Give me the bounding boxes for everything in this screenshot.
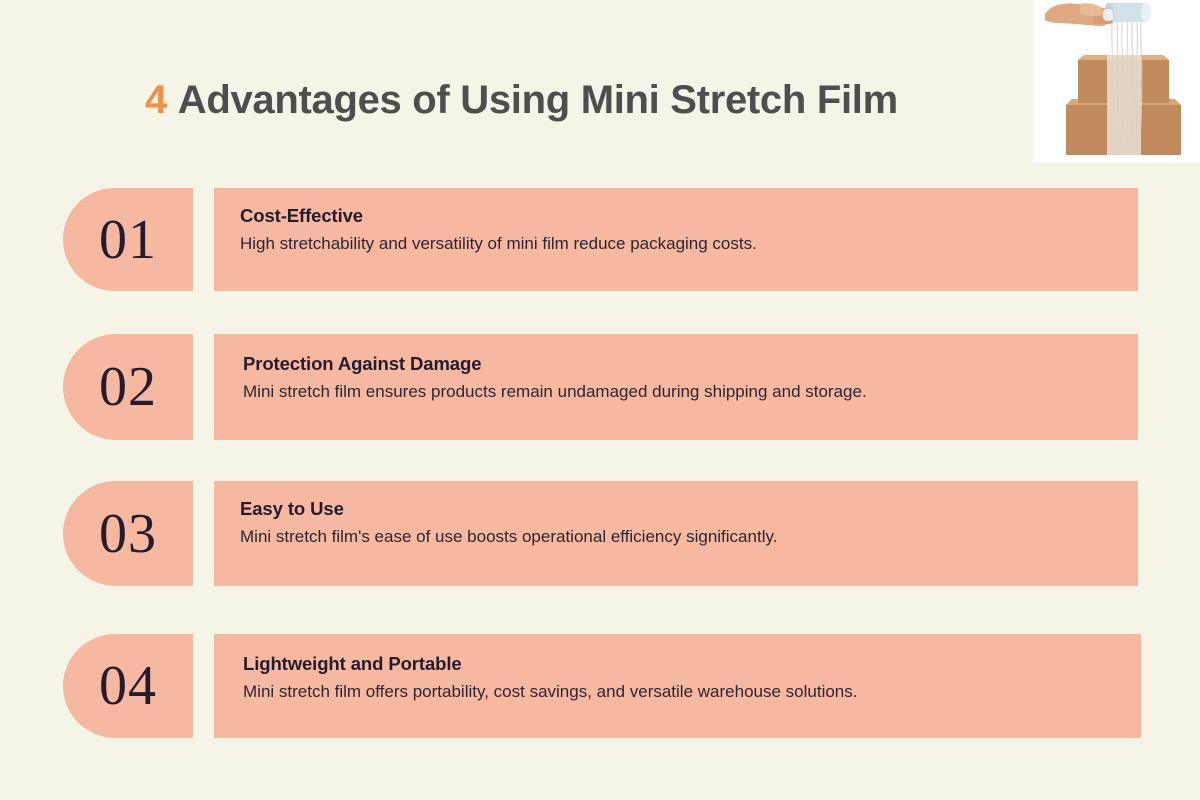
item-number-badge: 03 [63,481,193,586]
item-number: 04 [99,658,157,714]
item-card: Lightweight and Portable Mini stretch fi… [214,634,1141,738]
item-card: Cost-Effective High stretchability and v… [214,188,1138,291]
item-number-badge: 02 [63,334,193,440]
item-title: Lightweight and Portable [243,652,1119,675]
item-title: Protection Against Damage [243,352,1116,375]
page-title-number: 4 [145,78,167,123]
item-number: 01 [99,212,157,268]
list-item: 01 Cost-Effective High stretchability an… [63,188,1138,291]
item-description: High stretchability and versatility of m… [240,231,1070,257]
item-card: Easy to Use Mini stretch film's ease of … [214,481,1138,586]
spacer [193,188,214,291]
spacer [193,481,214,586]
list-item: 04 Lightweight and Portable Mini stretch… [63,634,1141,738]
item-description: Mini stretch film's ease of use boosts o… [240,524,1070,550]
spacer [193,634,214,738]
page-title-text: Advantages of Using Mini Stretch Film [178,78,898,123]
item-title: Easy to Use [240,497,1116,520]
item-description: Mini stretch film offers portability, co… [243,679,1073,705]
item-number-badge: 04 [63,634,193,738]
item-number: 02 [99,359,157,415]
list-item: 02 Protection Against Damage Mini stretc… [63,334,1138,440]
list-item: 03 Easy to Use Mini stretch film's ease … [63,481,1138,586]
item-card: Protection Against Damage Mini stretch f… [214,334,1138,440]
item-number-badge: 01 [63,188,193,291]
page-title: 4 Advantages of Using Mini Stretch Film [145,78,898,123]
spacer [193,334,214,440]
item-description: Mini stretch film ensures products remai… [243,379,1073,405]
hero-image-panel [1033,0,1200,163]
item-number: 03 [99,506,157,562]
item-title: Cost-Effective [240,204,1116,227]
stretch-film-wrapping-boxes-photo [1033,0,1200,163]
